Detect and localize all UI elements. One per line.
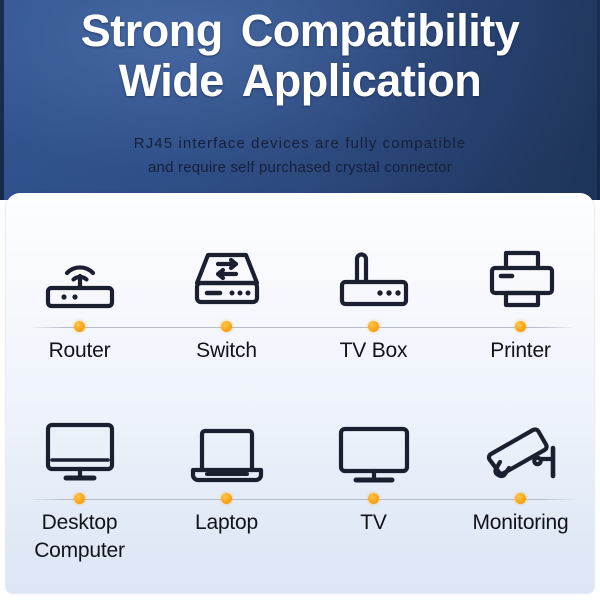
marker-dot-icon [221, 321, 232, 332]
device-label-laptop: Laptop [153, 509, 300, 565]
device-row-1-icons [6, 239, 594, 309]
device-label-tv: TV [300, 509, 447, 565]
device-icon-monitoring [447, 416, 594, 486]
dot-cell-laptop [153, 493, 300, 504]
device-label-desktop-line2: Computer [6, 537, 153, 565]
device-label-monitoring: Monitoring [447, 509, 594, 565]
device-icon-printer [447, 239, 594, 309]
device-row-2-dots [6, 493, 594, 504]
marker-dot-icon [74, 321, 85, 332]
dot-cell-printer [447, 321, 594, 332]
switch-icon [187, 247, 267, 309]
tv-icon [333, 424, 415, 486]
laptop-icon [185, 424, 269, 486]
device-label-desktop-computer: Desktop Computer [6, 509, 153, 565]
device-label-tv-box: TV Box [300, 337, 447, 365]
device-icon-router [6, 239, 153, 309]
marker-dot-icon [221, 493, 232, 504]
dot-cell-tv-box [300, 321, 447, 332]
device-label-switch: Switch [153, 337, 300, 365]
device-label-router: Router [6, 337, 153, 365]
device-label-desktop-line1: Desktop [42, 511, 118, 534]
dot-cell-router [6, 321, 153, 332]
device-row-1-labels: Router Switch TV Box Printer [6, 337, 594, 365]
device-icon-tv-box [300, 239, 447, 309]
security-camera-icon [478, 424, 564, 486]
device-icon-laptop [153, 416, 300, 486]
device-row-2-labels: Desktop Computer Laptop TV Monitoring [6, 509, 594, 565]
device-row-1-dots [6, 321, 594, 332]
dot-cell-desktop [6, 493, 153, 504]
device-icon-desktop-computer [6, 416, 153, 486]
device-compatibility-card: Router Switch TV Box Printer [6, 193, 594, 593]
device-row-2-icons [6, 416, 594, 486]
dot-cell-monitoring [447, 493, 594, 504]
subtitle-line-2: and require self purchased crystal conne… [0, 156, 600, 180]
marker-dot-icon [74, 493, 85, 504]
device-icon-tv [300, 416, 447, 486]
desktop-monitor-icon [40, 420, 120, 486]
dot-cell-switch [153, 321, 300, 332]
device-row-2: Desktop Computer Laptop TV Monitoring [6, 368, 594, 593]
headline-word-compatibility: Compatibility [241, 5, 520, 56]
subtitle-line-1: RJ45 interface devices are fully compati… [0, 132, 600, 156]
printer-icon [486, 247, 556, 309]
header-banner: StrongCompatibility WideApplication RJ45… [0, 0, 600, 200]
page-title: StrongCompatibility WideApplication [0, 6, 600, 106]
device-icon-switch [153, 239, 300, 309]
tv-box-icon [332, 247, 416, 309]
device-label-printer: Printer [447, 337, 594, 365]
headline-word-wide: Wide [119, 55, 224, 106]
marker-dot-icon [368, 321, 379, 332]
marker-dot-icon [515, 493, 526, 504]
banner-subtitle: RJ45 interface devices are fully compati… [0, 132, 600, 180]
headline-word-strong: Strong [81, 5, 223, 56]
router-icon [37, 247, 123, 309]
headline-word-application: Application [242, 55, 482, 106]
device-row-1: Router Switch TV Box Printer [6, 193, 594, 378]
marker-dot-icon [368, 493, 379, 504]
headline-line-2: WideApplication [0, 56, 600, 106]
marker-dot-icon [515, 321, 526, 332]
dot-cell-tv [300, 493, 447, 504]
promo-banner-screen: StrongCompatibility WideApplication RJ45… [0, 0, 600, 600]
